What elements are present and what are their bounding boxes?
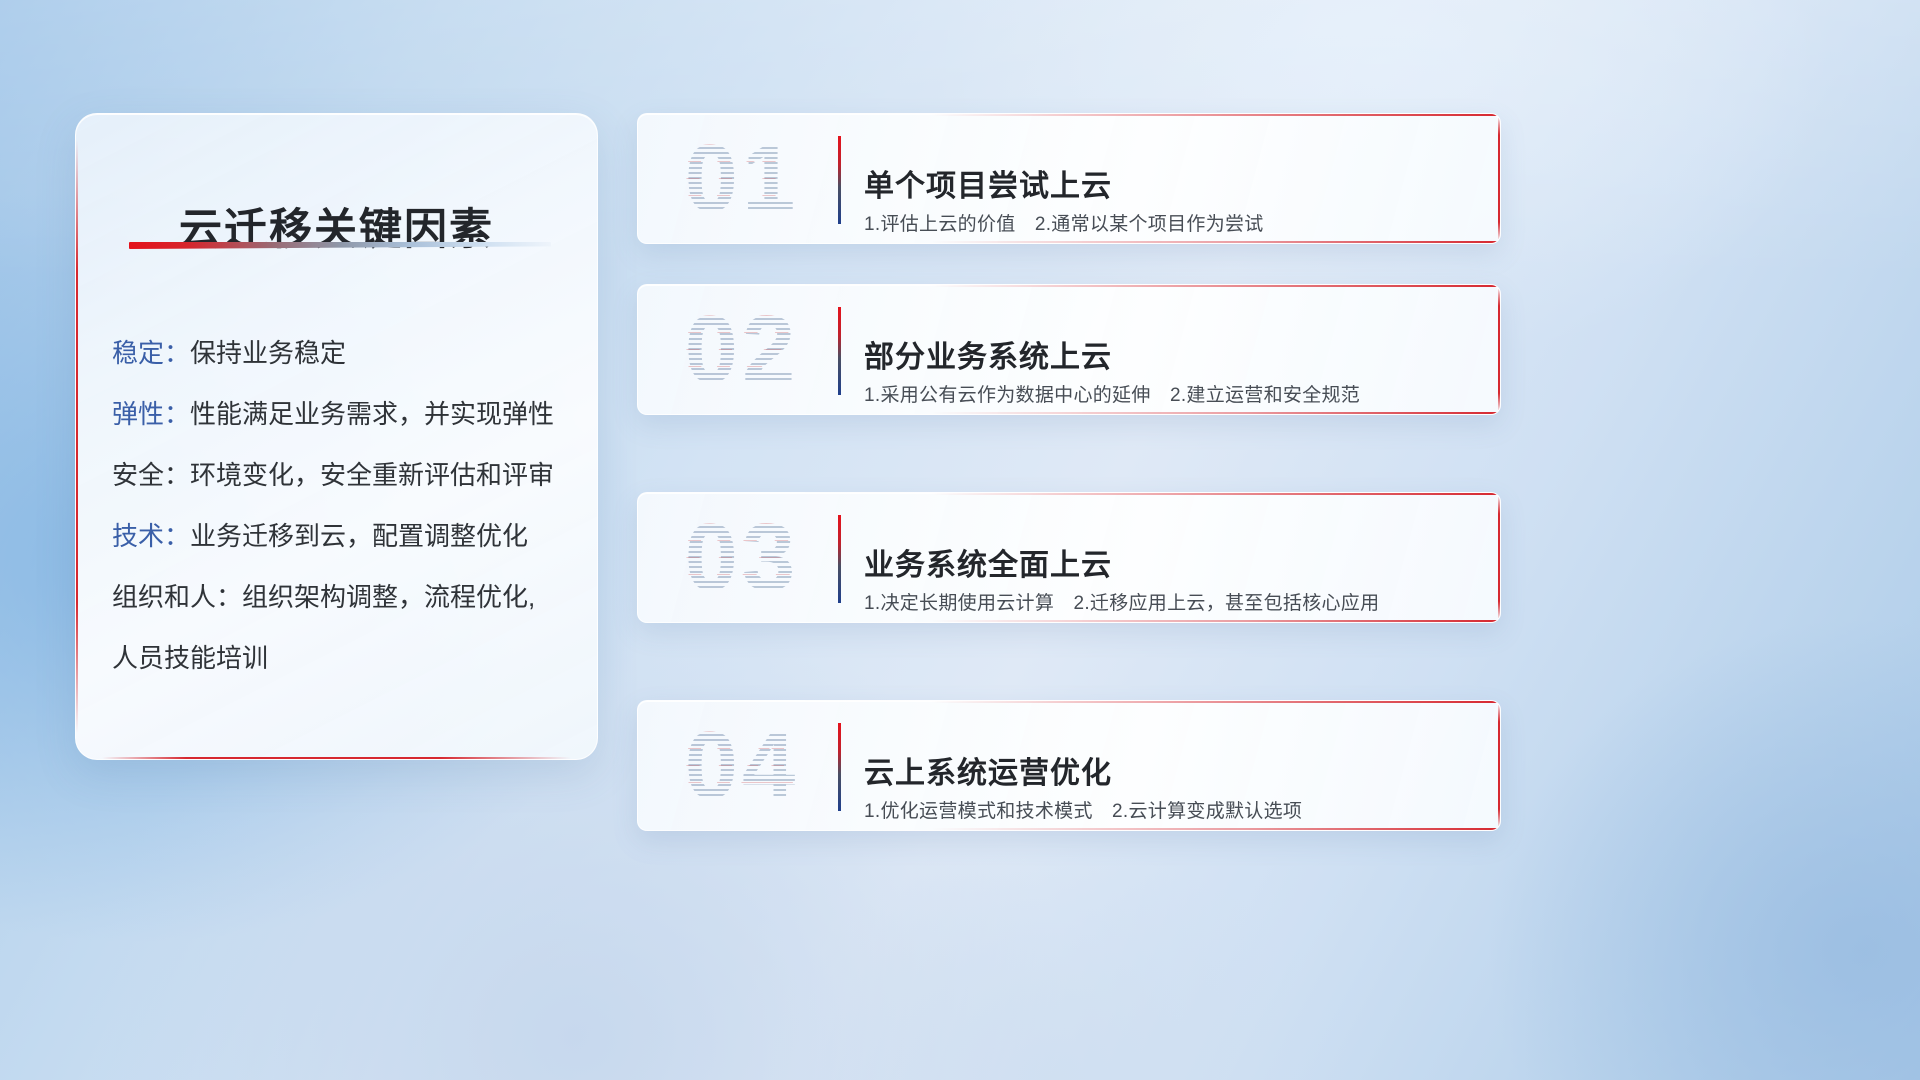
card-divider-line [838,136,841,224]
card-subtitle: 1.采用公有云作为数据中心的延伸 2.建立运营和安全规范 [864,380,1360,407]
panel-bottom-accent-line [102,757,571,759]
card-subtitle: 1.优化运营模式和技术模式 2.云计算变成默认选项 [864,796,1302,823]
card-title: 业务系统全面上云 [864,540,1112,584]
card-top-accent [931,114,1500,116]
card-step-number-ghost: 01 [660,127,820,231]
key-factor-label: 组织和人： [112,582,242,612]
card-title: 单个项目尝试上云 [864,161,1112,205]
stage-card-03[interactable]: 03 03 业务系统全面上云 1.决定长期使用云计算 2.迁移应用上云，甚至包括… [637,492,1501,623]
card-title: 云上系统运营优化 [864,748,1112,792]
card-bottom-accent [931,412,1500,414]
card-subtitle: 1.评估上云的价值 2.通常以某个项目作为尝试 [864,209,1264,236]
key-factor-label: 安全： [112,460,190,490]
card-right-accent [1498,497,1500,618]
key-factor-text: 环境变化，安全重新评估和评审 [190,460,554,490]
stage-card-04[interactable]: 04 04 云上系统运营优化 1.优化运营模式和技术模式 2.云计算变成默认选项 [637,700,1501,831]
card-top-accent [931,285,1500,287]
card-divider-line [838,723,841,811]
card-right-accent [1498,289,1500,410]
key-factor-text: 业务迁移到云，配置调整优化 [190,521,528,551]
key-factor-line: 技术：业务迁移到云，配置调整优化 [112,523,573,549]
card-bottom-accent [931,828,1500,830]
card-title: 部分业务系统上云 [864,332,1112,376]
key-factor-label: 技术： [112,521,190,551]
card-bottom-accent [931,620,1500,622]
card-top-accent [931,493,1500,495]
card-step-number-ghost: 03 [660,506,820,610]
card-right-accent [1498,705,1500,826]
card-divider-line [838,307,841,395]
card-step-number-ghost: 04 [660,714,820,818]
card-top-accent [931,701,1500,703]
card-right-accent [1498,118,1500,239]
key-factor-text: 性能满足业务需求，并实现弹性 [190,399,554,429]
key-factor-label: 稳定： [112,338,190,368]
card-divider-line [838,515,841,603]
key-factor-text: 组织架构调整，流程优化, [242,582,535,612]
key-factors-list: 稳定：保持业务稳定 弹性：性能满足业务需求，并实现弹性 安全：环境变化，安全重新… [112,314,573,706]
stage-card-02[interactable]: 02 02 部分业务系统上云 1.采用公有云作为数据中心的延伸 2.建立运营和安… [637,284,1501,415]
card-subtitle: 1.决定长期使用云计算 2.迁移应用上云，甚至包括核心应用 [864,588,1379,615]
card-bottom-accent [931,241,1500,243]
key-factor-line: 安全：环境变化，安全重新评估和评审 [112,462,573,488]
key-factor-line: 组织和人：组织架构调整，流程优化, [112,584,573,610]
key-factor-line: 稳定：保持业务稳定 [112,340,573,366]
key-factor-line: 人员技能培训 [112,645,573,671]
card-step-number-ghost: 02 [660,298,820,402]
stage-card-01[interactable]: 01 01 单个项目尝试上云 1.评估上云的价值 2.通常以某个项目作为尝试 [637,113,1501,244]
key-factor-text: 人员技能培训 [112,643,268,673]
key-factor-text: 保持业务稳定 [190,338,346,368]
key-factors-panel: 云迁移关键因素 稳定：保持业务稳定 弹性：性能满足业务需求，并实现弹性 安全：环… [75,113,598,760]
key-factor-line: 弹性：性能满足业务需求，并实现弹性 [112,401,573,427]
key-factor-label: 弹性： [112,399,190,429]
